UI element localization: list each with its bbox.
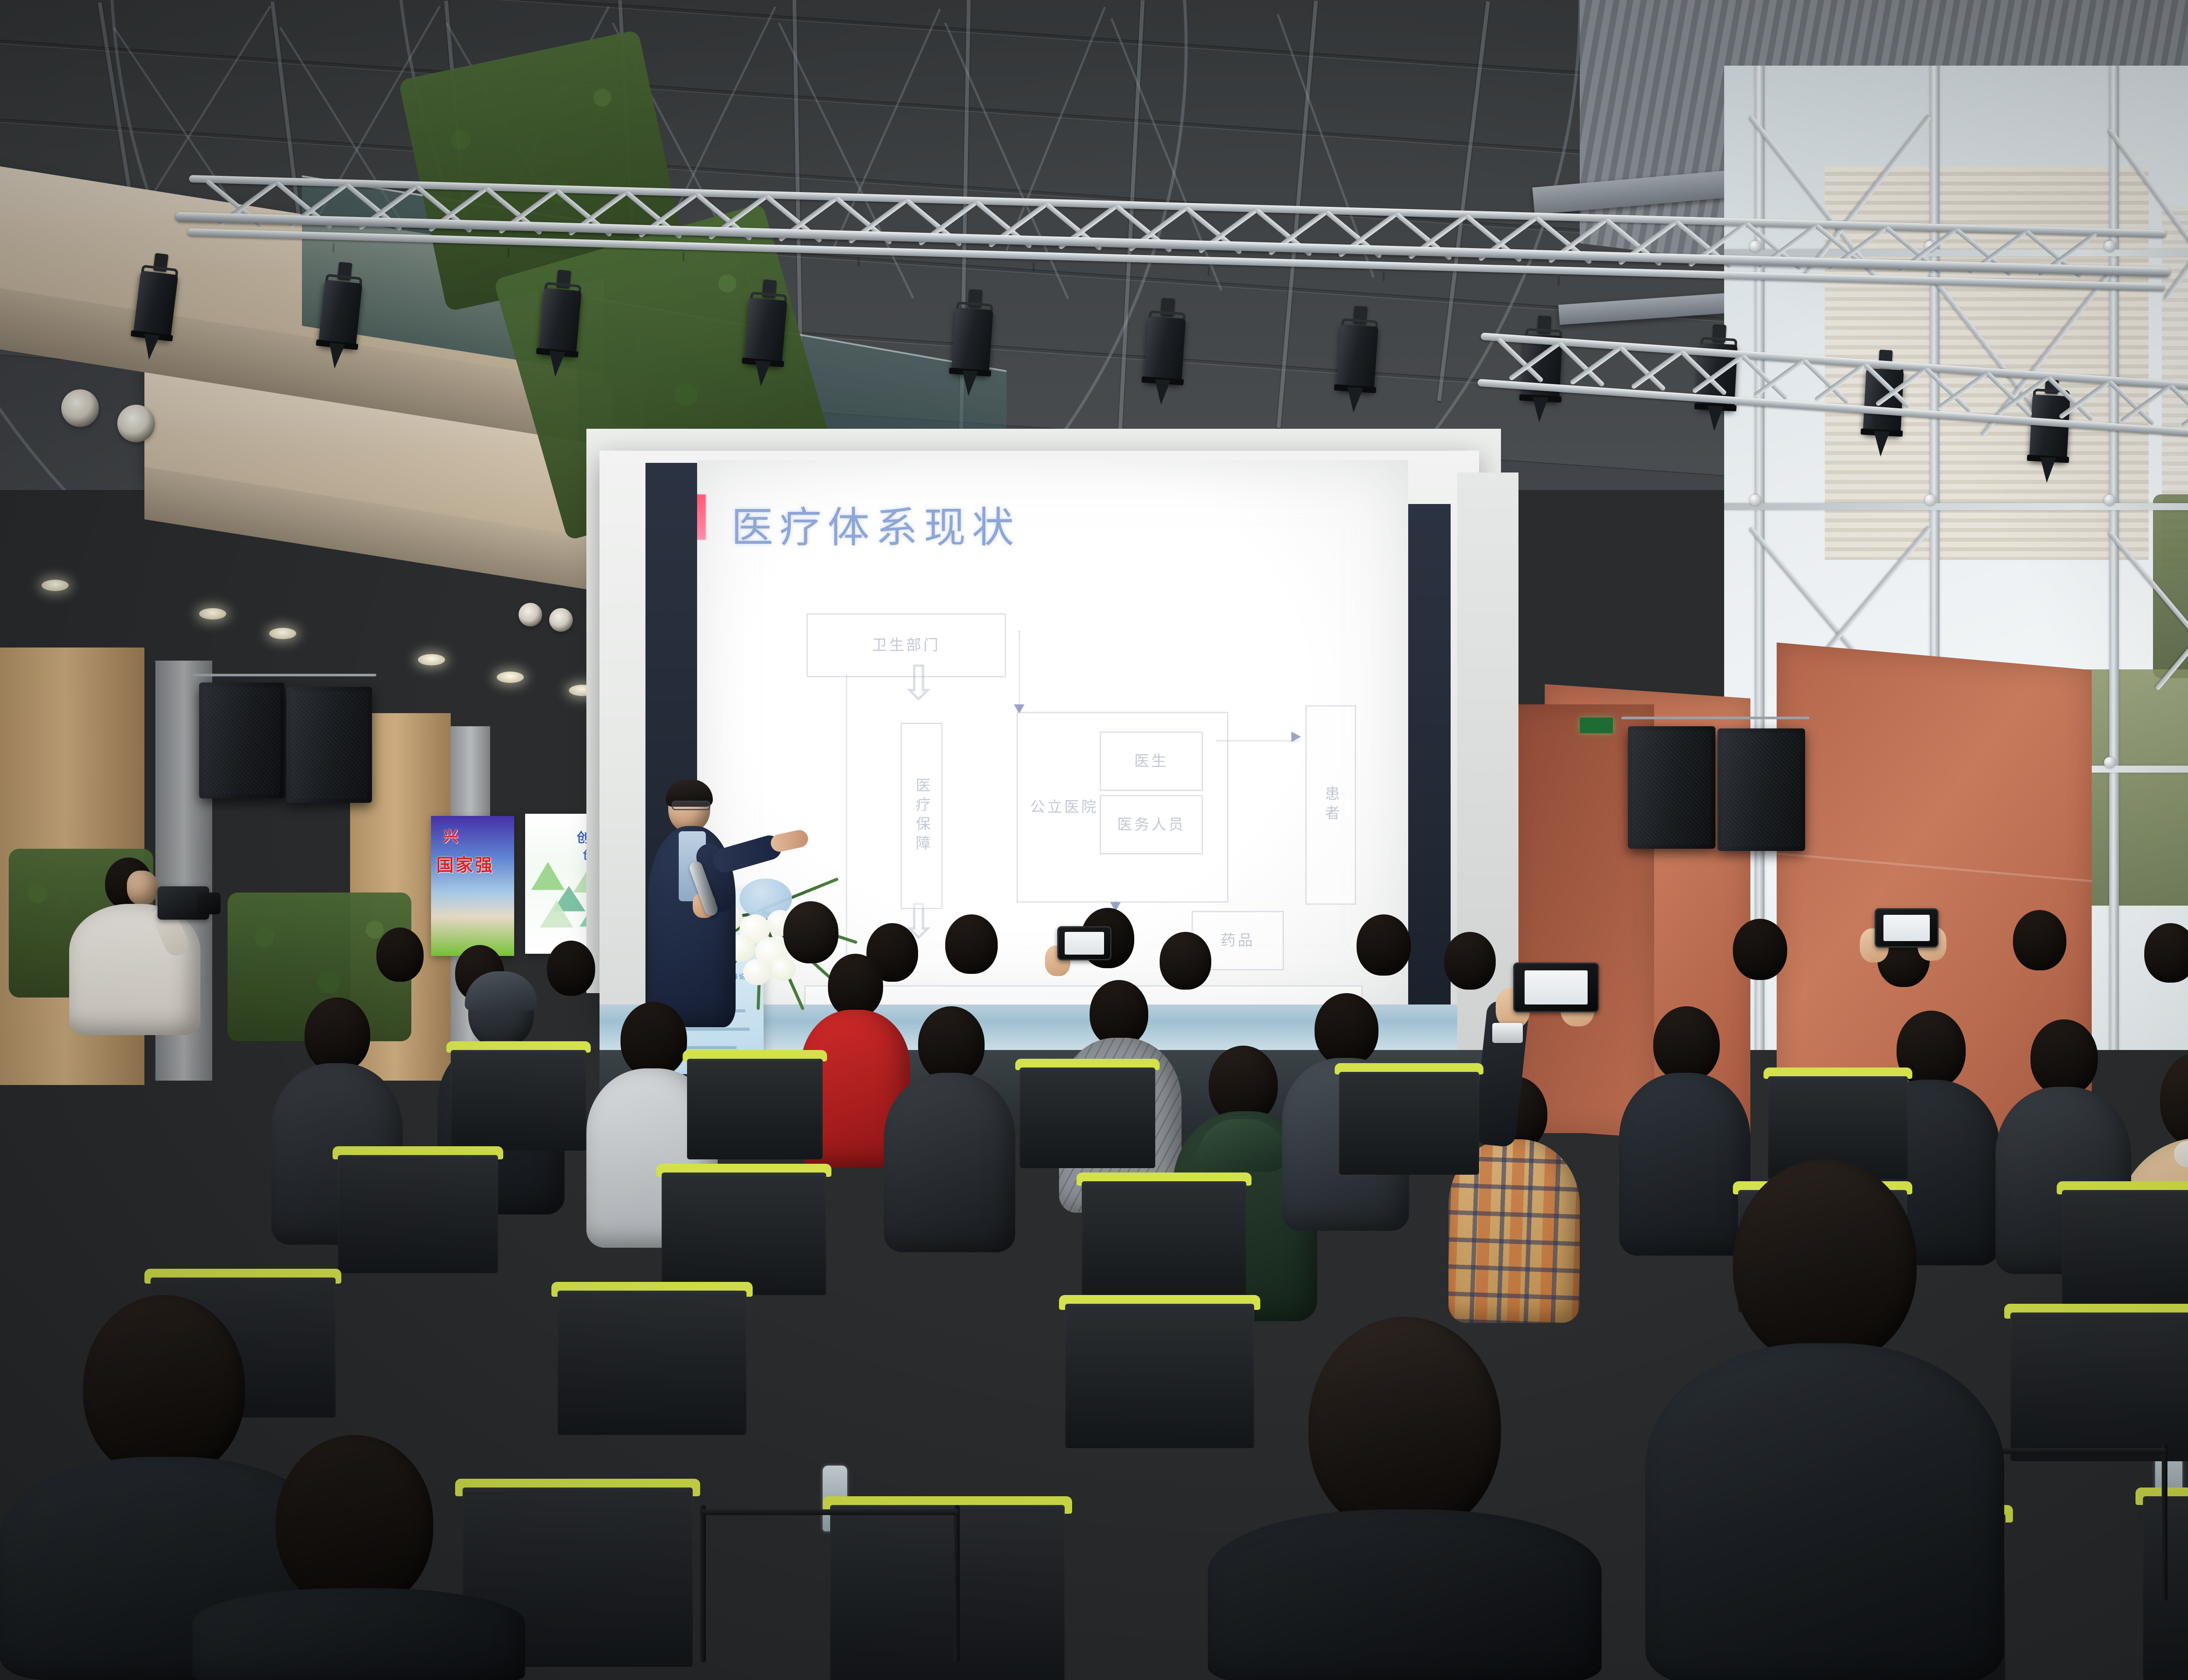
person-foreground-center (1208, 1317, 1602, 1680)
audience-head-far-1 (376, 927, 424, 982)
person-foreground-right (1645, 1159, 2004, 1680)
ceiling-downlight-5 (497, 672, 524, 683)
chair-r2-3[interactable] (1076, 1172, 1252, 1304)
speaker-right-b (1718, 728, 1805, 851)
wall-vent-right-a (519, 603, 542, 626)
speaker-left-a (199, 682, 284, 798)
person-mid-3 (884, 1006, 1015, 1251)
audience-head-far-9 (1357, 914, 1411, 976)
chair-r1-4[interactable] (1335, 1063, 1483, 1175)
speaker-presenter (637, 783, 781, 1028)
chair-r2-2[interactable] (656, 1164, 831, 1295)
ceiling-downlight-3 (269, 628, 296, 639)
chair-r2-1[interactable] (333, 1146, 503, 1273)
screen-side-bar-right (1407, 504, 1451, 1014)
slide-title-accent-bar (697, 494, 706, 540)
speaker-left-rigging (193, 674, 376, 676)
photographer-white-coat (66, 857, 219, 1032)
speaker-left-b (287, 687, 372, 803)
speaker-right-rigging (1621, 717, 1809, 719)
smartphone-camera-center[interactable] (1057, 926, 1112, 960)
chair-r3-2[interactable] (551, 1282, 753, 1435)
audience-head-far-13 (2013, 910, 2066, 970)
ceiling-downlight-1 (42, 580, 69, 591)
chair-r2-5[interactable] (2057, 1181, 2188, 1312)
banner-national: 兴 国家强 (431, 816, 514, 956)
exit-sign (1580, 717, 1613, 733)
chair-r1-2[interactable] (683, 1050, 827, 1159)
wall-vent-left-a (61, 389, 99, 427)
banner-national-line1: 兴 (443, 825, 460, 846)
chair-r1-1[interactable] (446, 1041, 591, 1151)
banner-national-line2: 国家强 (436, 851, 494, 876)
diagram-node-medical-staff: 医务人员 (1100, 795, 1203, 854)
diagram-node-patient: 患者 (1305, 705, 1356, 905)
wall-vent-left-b (117, 405, 155, 442)
audience-head-far-11 (1733, 919, 1787, 980)
chair-frame-legs-b (683, 1444, 989, 1662)
slide-title: 医疗体系现状 (731, 493, 1020, 554)
person-raising-phone-center (1041, 921, 1133, 1052)
speaker-right-a (1628, 726, 1715, 849)
wristwatch (1492, 1023, 1523, 1043)
conference-scene: 兴 国家强 创业 创新 医疗体系现状 卫生部门 ⇩ ⇩ 医疗保障 公立医院 医生… (0, 0, 2188, 1680)
diagram-node-doctor: 医生 (1100, 731, 1203, 791)
diagram-node-insurance: 医疗保障 (901, 723, 943, 909)
smartphone-camera[interactable] (1513, 962, 1599, 1012)
ceiling-downlight-2 (199, 608, 226, 619)
chair-r1-3[interactable] (1015, 1059, 1160, 1168)
person-foreground-center-left (193, 1435, 525, 1680)
smartphone-camera-right[interactable] (1875, 908, 1939, 948)
audience-head-far-6 (945, 914, 998, 974)
speaker-glasses (672, 801, 710, 810)
person-raising-phone-right (1855, 901, 1960, 1046)
ceiling-downlight-4 (418, 654, 445, 665)
wall-vent-right-b (549, 608, 573, 632)
